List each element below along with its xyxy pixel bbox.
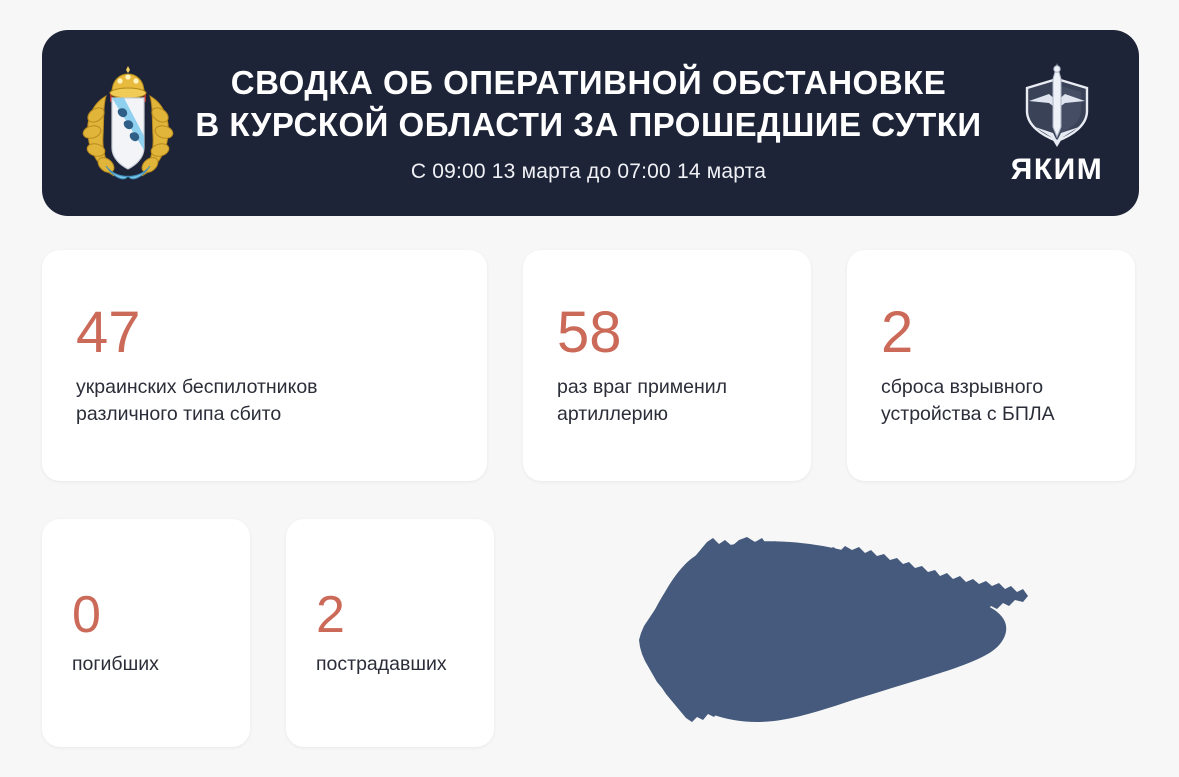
stats-row-bottom: 0 погибших 2 пострадавших <box>42 519 1139 747</box>
stat-card-artillery: 58 раз враг применил артиллерию <box>523 250 811 481</box>
stat-value: 0 <box>72 589 220 641</box>
shield-sword-emblem-icon <box>1015 61 1099 153</box>
title-line-2: В КУРСКОЙ ОБЛАСТИ ЗА ПРОШЕДШИЕ СУТКИ <box>188 104 989 146</box>
stat-card-drones: 47 украинских беспилотников различного т… <box>42 250 487 481</box>
header-banner: СВОДКА ОБ ОПЕРАТИВНОЙ ОБСТАНОВКЕ В КУРСК… <box>42 30 1139 216</box>
brand-name: ЯКИМ <box>1011 155 1103 185</box>
stat-label: погибших <box>72 651 220 678</box>
stat-label: пострадавших <box>316 651 464 678</box>
stats-row-top: 47 украинских беспилотников различного т… <box>42 250 1139 481</box>
stat-card-injured: 2 пострадавших <box>286 519 494 747</box>
stat-label-line-2: артиллерию <box>557 403 668 425</box>
stat-card-explosive-drops: 2 сброса взрывного устройства с БПЛА <box>847 250 1135 481</box>
region-map-container <box>530 519 1139 747</box>
infographic-page: СВОДКА ОБ ОПЕРАТИВНОЙ ОБСТАНОВКЕ В КУРСК… <box>0 0 1179 777</box>
stat-label-line-2: устройства с БПЛА <box>881 403 1055 425</box>
stat-label-line-1: раз враг применил <box>557 376 727 398</box>
brand-logo: ЯКИМ <box>997 61 1117 185</box>
header-text-block: СВОДКА ОБ ОПЕРАТИВНОЙ ОБСТАНОВКЕ В КУРСК… <box>180 62 997 184</box>
kursk-oblast-coat-of-arms-icon <box>76 60 180 186</box>
stat-label: сброса взрывного устройства с БПЛА <box>881 374 1101 428</box>
stat-label-line-2: различного типа сбито <box>76 403 281 425</box>
stat-label: раз враг применил артиллерию <box>557 374 777 428</box>
page-title: СВОДКА ОБ ОПЕРАТИВНОЙ ОБСТАНОВКЕ В КУРСК… <box>188 62 989 145</box>
stat-value: 47 <box>76 304 453 362</box>
kursk-oblast-map-silhouette-icon <box>635 526 1035 741</box>
stat-label-line-1: сброса взрывного <box>881 376 1043 398</box>
stat-label-line-1: украинских беспилотников <box>76 376 318 398</box>
stat-card-killed: 0 погибших <box>42 519 250 747</box>
stat-value: 2 <box>881 304 1101 362</box>
stat-value: 2 <box>316 589 464 641</box>
stat-label: украинских беспилотников различного типа… <box>76 374 453 428</box>
report-period: С 09:00 13 марта до 07:00 14 марта <box>188 160 989 184</box>
title-line-1: СВОДКА ОБ ОПЕРАТИВНОЙ ОБСТАНОВКЕ <box>231 64 946 101</box>
stat-value: 58 <box>557 304 777 362</box>
